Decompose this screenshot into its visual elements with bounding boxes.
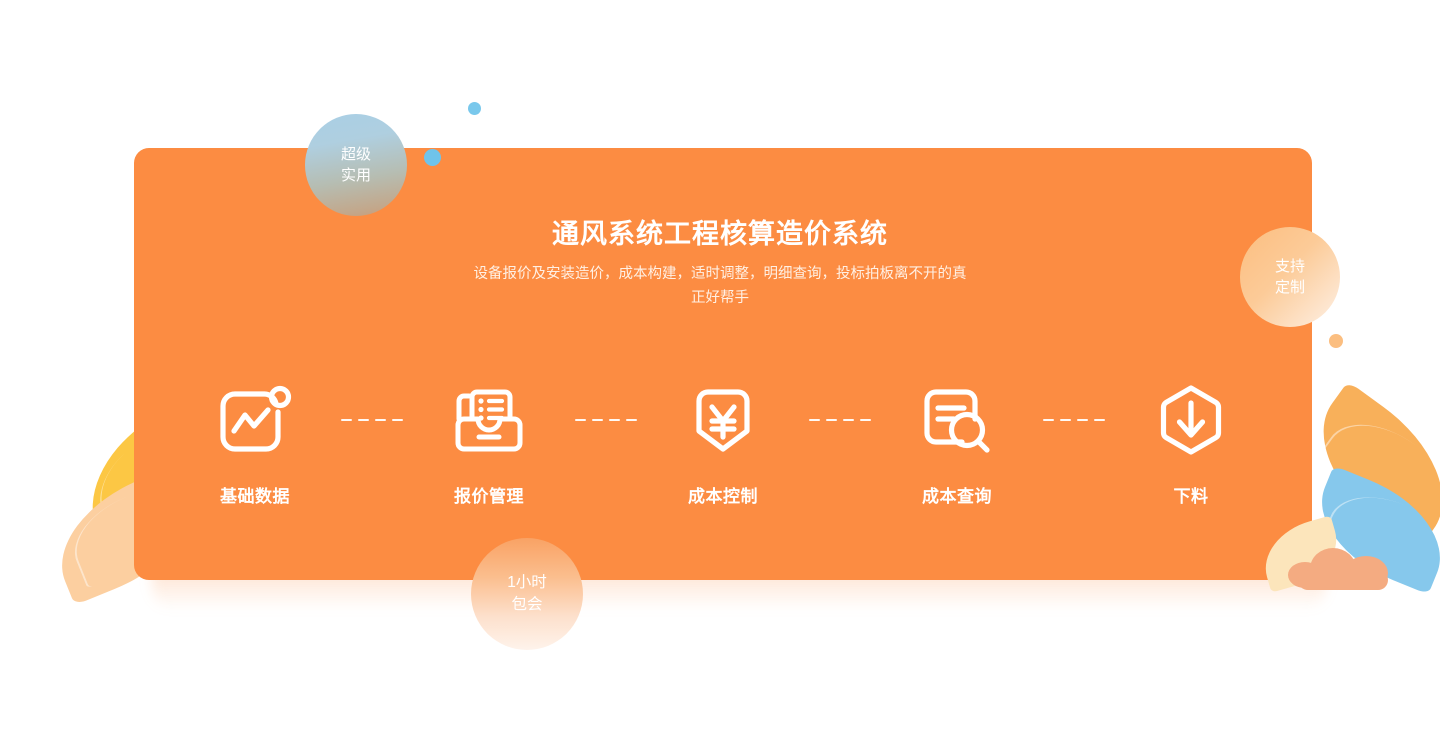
badge-super-practical: 超级 实用 [305,114,407,216]
yuan-shield-icon [682,372,764,468]
chart-card-icon [214,372,296,468]
feature-label: 下料 [1174,482,1209,507]
badge-right-line2: 定制 [1275,277,1305,298]
decor-dot-blue-top [468,102,481,115]
connector-dashes-3 [808,372,872,468]
badge-bottom-line2: 包会 [511,594,542,616]
connector-dashes-1 [340,372,404,468]
page-subtitle: 设备报价及安装造价，成本构建，适时调整，明细查询，投标拍板离不开的真正好帮手 [470,262,970,310]
connector-dashes-4 [1042,372,1106,468]
feature-item-basic-data[interactable]: 基础数据 [170,372,340,507]
feature-label: 报价管理 [454,482,524,507]
feature-item-cost-query[interactable]: 成本查询 [872,372,1042,507]
badge-one-hour-training: 1小时 包会 [471,538,583,650]
page-title: 通风系统工程核算造价系统 [0,212,1440,251]
inbox-document-icon [448,372,530,468]
leaf-orange-right-icon [1292,381,1440,550]
feature-item-quote-management[interactable]: 报价管理 [404,372,574,507]
feature-label: 基础数据 [220,482,290,507]
hexagon-arrow-down-icon [1150,372,1232,468]
badge-bottom-line1: 1小时 [507,572,547,594]
document-search-icon [916,372,998,468]
badge-top-left-line1: 超级 [341,144,371,165]
badge-right-line1: 支持 [1275,256,1305,277]
feature-item-cost-control[interactable]: 成本控制 [638,372,808,507]
feature-label: 成本控制 [688,482,758,507]
feature-label: 成本查询 [922,482,992,507]
feature-item-material-cutting[interactable]: 下料 [1106,372,1276,507]
decor-dot-blue-card [424,149,441,166]
feature-list: 基础数据 报价管理 [134,372,1312,532]
decor-dot-orange-right [1329,334,1343,348]
connector-dashes-2 [574,372,638,468]
badge-top-left-line2: 实用 [341,165,371,186]
banner-stage: 超级 实用 支持 定制 1小时 包会 通风系统工程核算造价系统 设备报价及安装造… [0,0,1440,730]
